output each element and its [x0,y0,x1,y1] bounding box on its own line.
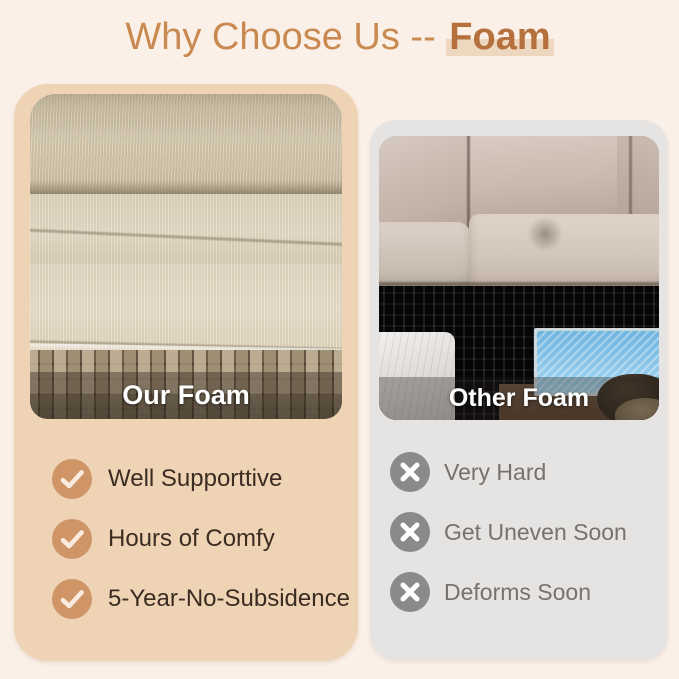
cross-circle-icon [390,572,430,612]
page-title: Why Choose Us -- Foam [0,18,679,56]
cushion-stain [527,216,563,252]
list-item: Well Supporttive [14,449,358,509]
list-item: 5-Year-No-Subsidence [14,569,358,629]
check-circle-icon [52,579,92,619]
list-item: Hours of Comfy [14,509,358,569]
other-foam-photo: Other Foam [379,136,659,420]
cross-circle-icon [390,452,430,492]
our-foam-feature-list: Well Supporttive Hours of Comfy 5-Year-N… [14,449,358,629]
check-circle-icon [52,519,92,559]
list-item: Get Uneven Soon [370,502,668,562]
page-title-lead: Why Choose Us -- [125,16,446,58]
our-foam-photo: Our Foam [30,94,342,419]
feature-label: Deforms Soon [444,579,591,606]
page-title-emphasis-text: Foam [449,16,550,58]
other-foam-feature-list: Very Hard Get Uneven Soon Deforms Soon [370,442,668,622]
sectional-seat-cushion-right [469,214,659,292]
our-foam-caption: Our Foam [30,372,342,419]
other-foam-panel: Other Foam Very Hard Get Uneven Soon [370,120,668,660]
check-circle-icon [52,459,92,499]
feature-label: Very Hard [444,459,546,486]
cross-circle-icon [390,512,430,552]
our-foam-panel: Our Foam Well Supporttive Hours of Comfy [14,84,358,661]
list-item: Very Hard [370,442,668,502]
feature-label: Hours of Comfy [108,525,275,553]
feature-label: Well Supporttive [108,465,282,493]
other-foam-caption: Other Foam [379,377,659,420]
page-title-emphasis: Foam [446,18,553,56]
sectional-seat-cushion-left [379,222,471,290]
feature-label: 5-Year-No-Subsidence [108,585,350,613]
sectional-back-cushion-middle [467,136,637,226]
feature-label: Get Uneven Soon [444,519,627,546]
list-item: Deforms Soon [370,562,668,622]
